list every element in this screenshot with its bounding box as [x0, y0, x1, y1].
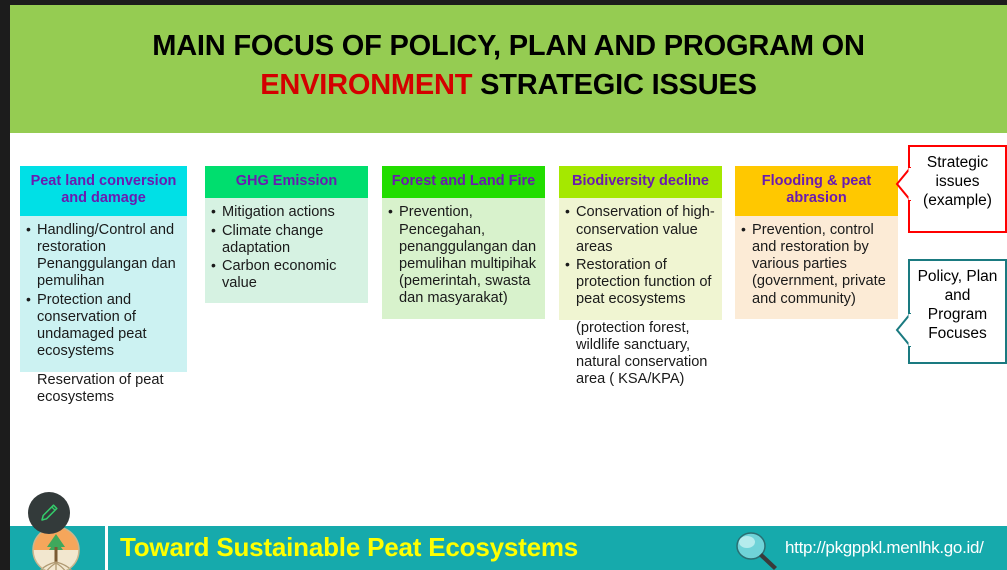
strategic-issue-card: GHG EmissionMitigation actionsClimate ch… [205, 166, 368, 303]
page-title: MAIN FOCUS OF POLICY, PLAN AND PROGRAM O… [10, 27, 1007, 106]
card-overflow-text: (protection forest, wildlife sanctuary, … [559, 320, 722, 389]
card-body: Conservation of high-conservation value … [559, 198, 722, 319]
title-line-2-rest: STRATEGIC ISSUES [472, 69, 757, 101]
card-overflow-line: Reservation of peat ecosystems [26, 372, 180, 406]
strategic-issue-card: Biodiversity declineConservation of high… [559, 166, 722, 389]
card-header: Forest and Land Fire [382, 166, 545, 198]
card-overflow-text: Reservation of peat ecosystems [20, 372, 187, 406]
card-bullet: Protection and conservation of undamaged… [26, 292, 180, 361]
search-magnifier-icon [732, 531, 780, 570]
title-highlight-environment: ENVIRONMENT [260, 69, 472, 101]
footer-title: Toward Sustainable Peat Ecosystems [120, 532, 578, 563]
card-overflow-line: (protection forest, wildlife sanctuary, … [565, 320, 715, 389]
card-header: Peat land conversion and damage [20, 166, 187, 216]
card-bullet: Restoration of protection function of pe… [565, 257, 715, 309]
card-body: Prevention, control and restoration by v… [735, 216, 898, 319]
card-body: Prevention, Pencegahan, penanggulangan d… [382, 198, 545, 318]
card-header: Flooding & peat abrasion [735, 166, 898, 216]
footer-divider [105, 526, 108, 570]
card-bullet: Carbon economic value [211, 258, 361, 292]
footer-url[interactable]: http://pkgppkl.menlhk.go.id/ [785, 538, 984, 558]
callout-policy-label: Policy, Plan and Program Focuses [918, 268, 998, 342]
title-banner: MAIN FOCUS OF POLICY, PLAN AND PROGRAM O… [10, 5, 1007, 133]
strategic-issue-card: Forest and Land FirePrevention, Pencegah… [382, 166, 545, 319]
card-bullet: Mitigation actions [211, 204, 361, 221]
edit-pencil-button[interactable] [28, 492, 70, 534]
card-bullet: Climate change adaptation [211, 223, 361, 257]
callout-tail-icon [895, 167, 911, 201]
card-body: Handling/Control and restoration Penangg… [20, 216, 187, 372]
strategic-issue-card: Flooding & peat abrasionPrevention, cont… [735, 166, 898, 319]
callout-policy-focuses: Policy, Plan and Program Focuses [908, 259, 1007, 364]
card-bullet: Handling/Control and restoration Penangg… [26, 222, 180, 291]
callout-strategic-issues: Strategic issues (example) [908, 145, 1007, 233]
card-body: Mitigation actionsClimate change adaptat… [205, 198, 368, 303]
slide-canvas: MAIN FOCUS OF POLICY, PLAN AND PROGRAM O… [10, 5, 1007, 570]
strategic-issue-card: Peat land conversion and damageHandling/… [20, 166, 187, 406]
card-bullet: Conservation of high-conservation value … [565, 204, 715, 256]
card-header: Biodiversity decline [559, 166, 722, 198]
card-bullet: Prevention, Pencegahan, penanggulangan d… [388, 204, 538, 307]
title-line-1: MAIN FOCUS OF POLICY, PLAN AND PROGRAM O… [152, 30, 865, 62]
card-bullet: Prevention, control and restoration by v… [741, 222, 891, 308]
callout-strategic-label: Strategic issues (example) [923, 154, 992, 209]
pencil-icon [39, 503, 59, 523]
card-header: GHG Emission [205, 166, 368, 198]
callout-tail-icon [895, 313, 911, 347]
